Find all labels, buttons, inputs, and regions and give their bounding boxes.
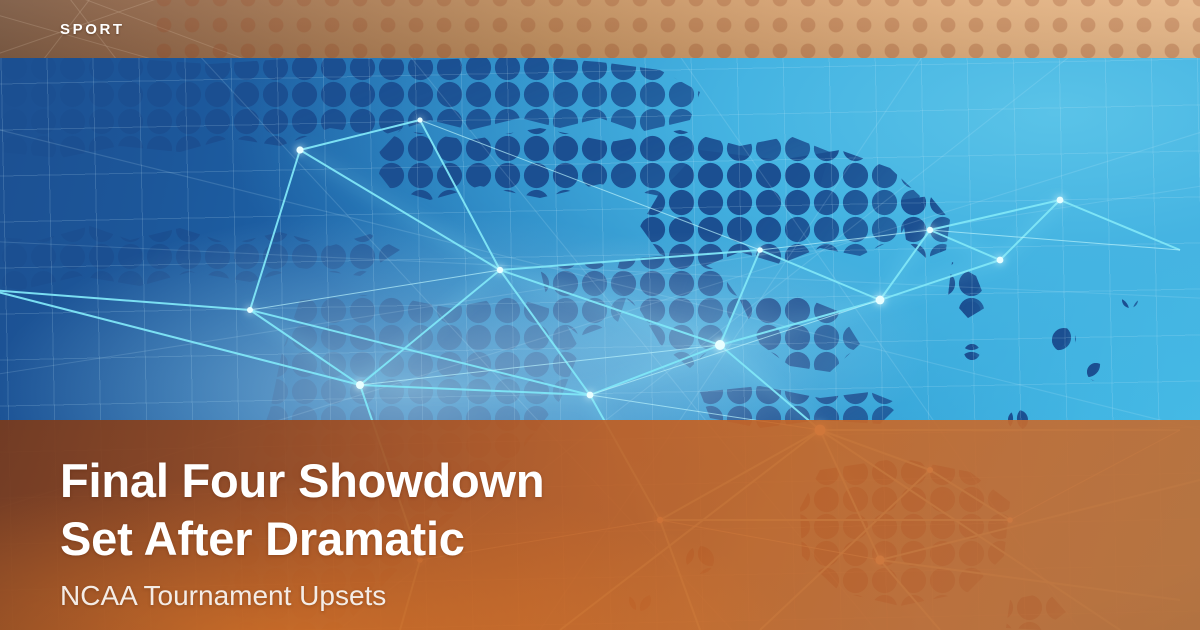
topbar-shading (0, 0, 1200, 58)
headline-text: Final Four Showdown Set After Dramatic (60, 452, 920, 568)
category-bar: SPORT (0, 0, 1200, 58)
subheadline-text: NCAA Tournament Upsets (60, 577, 920, 615)
social-share-card: SPORT Final Four Showdown Set After Dram… (0, 0, 1200, 630)
category-label: SPORT (60, 0, 125, 58)
